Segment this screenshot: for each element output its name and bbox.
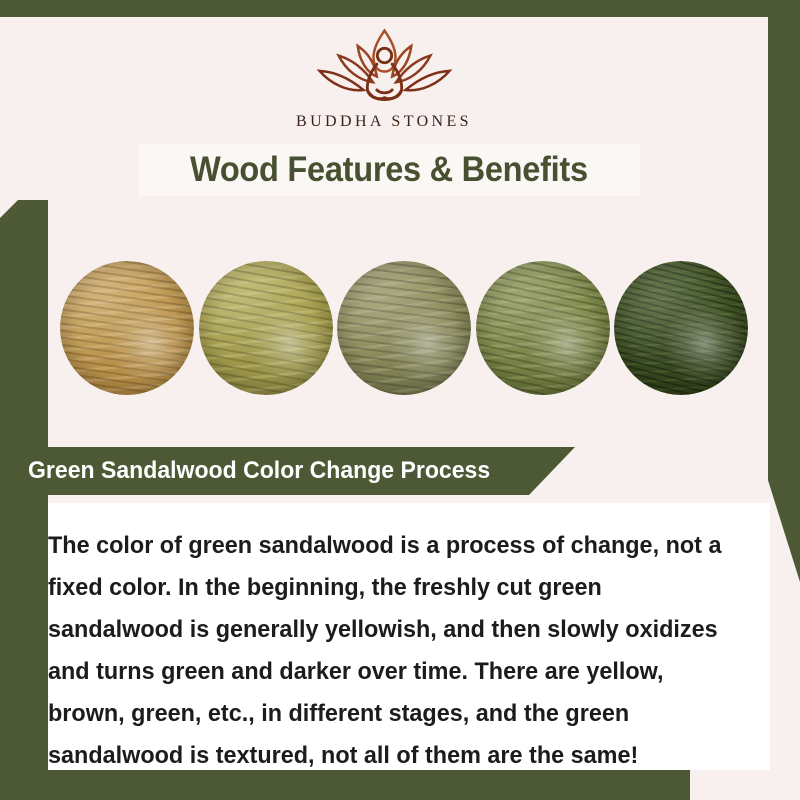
- frame-top-bar: [0, 0, 800, 17]
- brand-logo: BUDDHA STONES: [0, 17, 768, 142]
- brand-wordmark: BUDDHA STONES: [296, 113, 472, 131]
- section-body-card: The color of green sandalwood is a proce…: [48, 503, 770, 770]
- bead-shading: [337, 261, 471, 395]
- section-body-text: The color of green sandalwood is a proce…: [48, 525, 732, 777]
- bead-stage-1: [60, 261, 194, 395]
- bead-shading: [60, 261, 194, 395]
- bead-stage-4: [476, 261, 610, 395]
- section-banner-title: Green Sandalwood Color Change Process: [28, 457, 490, 485]
- poster-root: BUDDHA STONES Wood Features & Benefits G…: [0, 0, 800, 800]
- frame-left-bar: [0, 200, 48, 800]
- frame-right-bar: [768, 17, 800, 582]
- section-banner: Green Sandalwood Color Change Process: [0, 447, 575, 495]
- lotus-meditation-icon: [307, 23, 462, 111]
- page-title: Wood Features & Benefits: [190, 150, 588, 190]
- bead-stage-3: [337, 261, 471, 395]
- bead-stage-2: [199, 261, 333, 395]
- page-title-band: Wood Features & Benefits: [138, 144, 640, 196]
- bead-shading: [199, 261, 333, 395]
- bead-shading: [614, 261, 748, 395]
- bead-stage-5: [614, 261, 748, 395]
- bead-gallery: [48, 258, 760, 398]
- bead-shading: [476, 261, 610, 395]
